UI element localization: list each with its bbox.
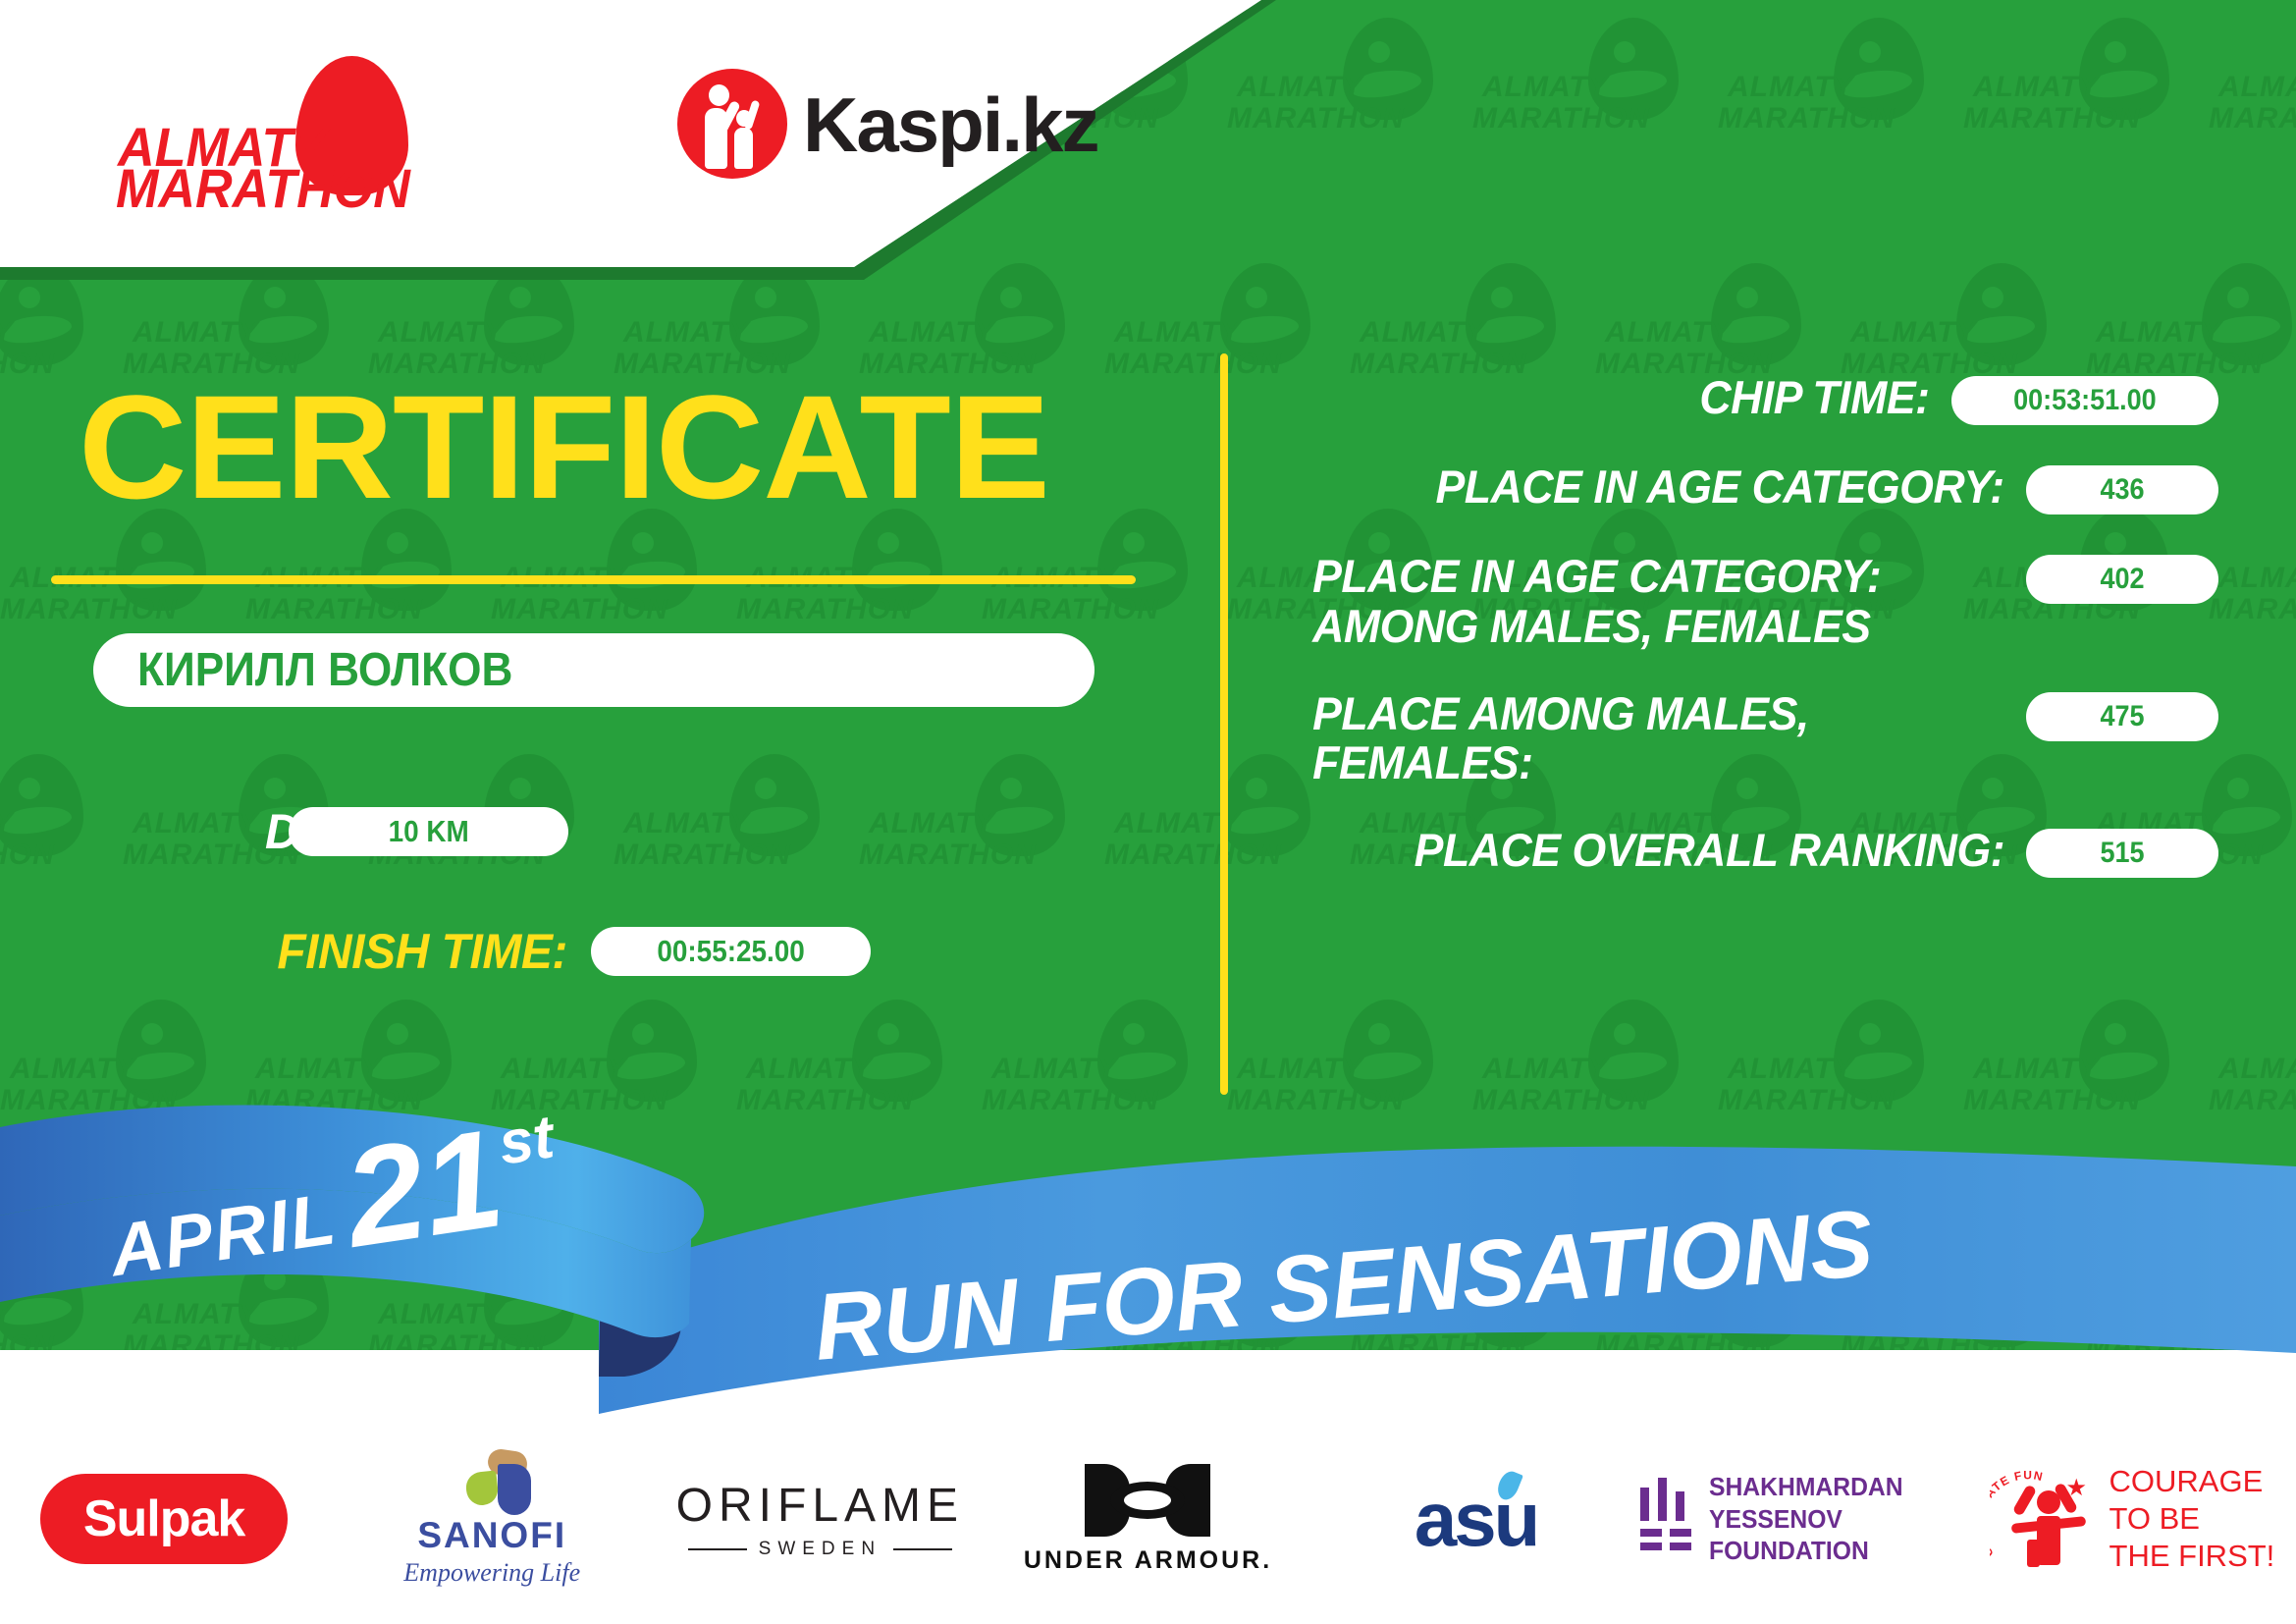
watermark-line-1: ALMATY bbox=[991, 1053, 1118, 1086]
watermark-line-2: MARATHON bbox=[0, 593, 178, 626]
stat-value-pill: 475 bbox=[2026, 692, 2218, 741]
participant-name: КИРИЛЛ ВОЛКОВ bbox=[137, 643, 512, 697]
watermark-line-1: ALMATY bbox=[1482, 71, 1609, 104]
stat-row: CHIP TIME:00:53:51.00 bbox=[1276, 373, 2218, 425]
watermark-line-2: MARATHON bbox=[1104, 348, 1282, 381]
stat-value-pill: 00:53:51.00 bbox=[1951, 376, 2218, 425]
watermark-line-1: ALMATY bbox=[1728, 71, 1854, 104]
watermark-line-1: ALMATY bbox=[1605, 316, 1732, 350]
watermark-line-2: MARATHON bbox=[614, 839, 791, 872]
event-ribbon: APRIL 21 st RUN FOR SENSATIONS bbox=[0, 1090, 2296, 1414]
watermark-line-1: ALMATY bbox=[2218, 1053, 2296, 1086]
sponsor-strip: Sulpak SANOFI Empowering Life ORIFLAME S… bbox=[0, 1414, 2296, 1624]
stat-value: 515 bbox=[2100, 837, 2144, 870]
watermark-tile: ALMATYMARATHON bbox=[1227, 0, 1472, 245]
stat-value-pill: 436 bbox=[2026, 465, 2218, 514]
oriflame-rule-right bbox=[893, 1548, 952, 1550]
distance-row: DISTANCE: 10 KM bbox=[265, 803, 568, 860]
watermark-line-1: ALMATY bbox=[623, 807, 750, 840]
finish-time-value-pill: 00:55:25.00 bbox=[591, 927, 871, 976]
watermark-line-2: MARATHON bbox=[2209, 593, 2296, 626]
watermark-line-2: MARATHON bbox=[0, 348, 55, 381]
watermark-line-1: ALMATY bbox=[2218, 71, 2296, 104]
watermark-tile: ALMATYMARATHON bbox=[0, 736, 123, 982]
stat-row: PLACE IN AGE CATEGORY:436 bbox=[1276, 462, 2218, 514]
watermark-tile: ALMATYMARATHON bbox=[1963, 0, 2209, 245]
watermark-line-1: ALMATY bbox=[1237, 1053, 1363, 1086]
sponsor-sulpak: Sulpak bbox=[0, 1440, 328, 1597]
oriflame-sub: SWEDEN bbox=[676, 1539, 964, 1560]
y-bar-2 bbox=[1658, 1478, 1667, 1521]
stat-value-pill: 515 bbox=[2026, 829, 2218, 878]
kaspi-family-icon bbox=[677, 69, 787, 179]
watermark-line-2: MARATHON bbox=[1227, 102, 1405, 135]
kaspi-child-head bbox=[736, 110, 752, 127]
event-day-suffix: st bbox=[495, 1102, 559, 1178]
watermark-line-2: MARATHON bbox=[0, 839, 55, 872]
sanofi-logo: SANOFI Empowering Life bbox=[369, 1450, 614, 1588]
watermark-tile: ALMATYMARATHON bbox=[2209, 0, 2296, 245]
under-armour-wordmark: UNDER ARMOUR. bbox=[1024, 1546, 1272, 1575]
stat-label: PLACE OVERALL RANKING: bbox=[1415, 826, 2004, 876]
distance-value: 10 KM bbox=[388, 814, 468, 849]
sanofi-mark-icon bbox=[369, 1450, 614, 1511]
courage-logo: CORPORATE FUND ★ COURAGE TO BE THE FIRST… bbox=[1990, 1463, 2275, 1574]
yessenov-wordmark: SHAKHMARDAN YESSENOV FOUNDATION bbox=[1709, 1471, 1954, 1567]
y-bar-3 bbox=[1676, 1491, 1684, 1521]
asu-wordmark: asu bbox=[1415, 1476, 1537, 1562]
sanofi-tagline: Empowering Life bbox=[369, 1558, 614, 1588]
watermark-line-1: ALMATY bbox=[869, 316, 995, 350]
watermark-line-1: ALMATY bbox=[1973, 71, 2100, 104]
courage-leg bbox=[2027, 1540, 2040, 1567]
oriflame-wordmark: ORIFLAME bbox=[676, 1479, 964, 1533]
sanofi-green-shape bbox=[465, 1470, 500, 1506]
sponsor-courage: CORPORATE FUND ★ COURAGE TO BE THE FIRST… bbox=[1968, 1440, 2296, 1597]
column-divider bbox=[1220, 353, 1228, 1095]
y-bar-1 bbox=[1640, 1488, 1649, 1521]
stat-label: CHIP TIME: bbox=[1700, 373, 1930, 423]
watermark-line-1: ALMATY bbox=[1237, 71, 1363, 104]
watermark-line-1: ALMATY bbox=[133, 807, 259, 840]
yessenov-logo: SHAKHMARDAN YESSENOV FOUNDATION bbox=[1640, 1471, 1968, 1567]
under-armour-icon bbox=[1085, 1464, 1210, 1537]
oriflame-sub-text: SWEDEN bbox=[759, 1539, 881, 1560]
watermark-tile: ALMATYMARATHON bbox=[1472, 0, 1718, 245]
watermark-line-1: ALMATY bbox=[1114, 316, 1241, 350]
stat-row: PLACE OVERALL RANKING:515 bbox=[1276, 826, 2218, 878]
watermark-line-1: ALMATY bbox=[1482, 1053, 1609, 1086]
kaspi-logo: Kaspi.kz bbox=[677, 59, 1090, 187]
oriflame-rule-left bbox=[688, 1548, 747, 1550]
watermark-line-2: MARATHON bbox=[1472, 102, 1650, 135]
kaspi-adult-body bbox=[705, 108, 727, 169]
watermark-line-1: ALMATY bbox=[133, 316, 259, 350]
courage-wordmark: COURAGE TO BE THE FIRST! bbox=[2109, 1463, 2275, 1574]
page-title: CERTIFICATE bbox=[79, 373, 1049, 520]
stat-label: PLACE IN AGE CATEGORY: bbox=[1436, 462, 2004, 513]
courage-head bbox=[2037, 1490, 2060, 1514]
watermark-line-1: ALMATY bbox=[255, 1053, 382, 1086]
watermark-tile: ALMATYMARATHON bbox=[2209, 491, 2296, 736]
watermark-line-1: ALMATY bbox=[1360, 316, 1486, 350]
event-day: 21 bbox=[338, 1115, 509, 1263]
y-bar-7 bbox=[1670, 1543, 1691, 1550]
sanofi-wordmark: SANOFI bbox=[369, 1515, 614, 1556]
watermark-line-1: ALMATY bbox=[2218, 562, 2296, 595]
stat-label: PLACE IN AGE CATEGORY: AMONG MALES, FEMA… bbox=[1312, 552, 2004, 652]
watermark-line-2: MARATHON bbox=[1718, 102, 1896, 135]
watermark-line-2: MARATHON bbox=[736, 593, 914, 626]
watermark-line-2: MARATHON bbox=[1963, 102, 2141, 135]
sponsor-sanofi: SANOFI Empowering Life bbox=[328, 1440, 656, 1597]
stat-value-pill: 402 bbox=[2026, 555, 2218, 604]
stat-label: PLACE AMONG MALES, FEMALES: bbox=[1312, 689, 2004, 789]
watermark-line-1: ALMATY bbox=[10, 1053, 136, 1086]
y-bar-4 bbox=[1640, 1529, 1662, 1537]
almaty-marathon-logo: ALMATY MARATHON bbox=[116, 54, 440, 211]
participant-name-field: КИРИЛЛ ВОЛКОВ bbox=[93, 633, 1095, 707]
watermark-line-1: ALMATY bbox=[378, 316, 505, 350]
watermark-line-2: MARATHON bbox=[245, 593, 423, 626]
sponsor-asu: asu bbox=[1312, 1440, 1640, 1597]
stat-value: 402 bbox=[2100, 563, 2144, 596]
watermark-tile: ALMATYMARATHON bbox=[859, 736, 1104, 982]
stat-row: PLACE IN AGE CATEGORY: AMONG MALES, FEMA… bbox=[1276, 552, 2218, 652]
watermark-line-1: ALMATY bbox=[0, 316, 14, 350]
stats-list: CHIP TIME:00:53:51.00PLACE IN AGE CATEGO… bbox=[1276, 373, 2218, 915]
watermark-line-1: ALMATY bbox=[746, 1053, 873, 1086]
watermark-tile: ALMATYMARATHON bbox=[1718, 0, 1963, 245]
y-bar-6 bbox=[1640, 1543, 1662, 1550]
courage-mark-icon: CORPORATE FUND ★ bbox=[1990, 1465, 2096, 1573]
sponsor-under-armour: UNDER ARMOUR. bbox=[984, 1440, 1311, 1597]
stat-value: 436 bbox=[2100, 473, 2144, 507]
watermark-line-2: MARATHON bbox=[491, 593, 668, 626]
watermark-line-1: ALMATY bbox=[1728, 1053, 1854, 1086]
watermark-line-1: ALMATY bbox=[869, 807, 995, 840]
watermark-line-1: ALMATY bbox=[1850, 316, 1977, 350]
finish-time-row: FINISH TIME: 00:55:25.00 bbox=[265, 923, 871, 980]
watermark-line-1: ALMATY bbox=[1973, 1053, 2100, 1086]
watermark-line-2: MARATHON bbox=[1104, 839, 1282, 872]
kaspi-wordmark: Kaspi.kz bbox=[803, 81, 1097, 170]
kaspi-adult-head bbox=[709, 84, 729, 106]
ua-center-hole bbox=[1124, 1490, 1171, 1510]
finish-time-value: 00:55:25.00 bbox=[657, 934, 804, 969]
asu-logo: asu bbox=[1415, 1475, 1537, 1564]
sulpak-wordmark: Sulpak bbox=[83, 1489, 245, 1548]
watermark-line-1: ALMATY bbox=[0, 807, 14, 840]
stat-value: 00:53:51.00 bbox=[2013, 384, 2157, 417]
watermark-line-2: MARATHON bbox=[982, 593, 1159, 626]
y-bar-5 bbox=[1670, 1529, 1691, 1537]
certificate-page: ALMATYMARATHONALMATYMARATHONALMATYMARATH… bbox=[0, 0, 2296, 1624]
stat-row: PLACE AMONG MALES, FEMALES:475 bbox=[1276, 689, 2218, 789]
sanofi-blue-shape bbox=[498, 1464, 531, 1515]
oriflame-logo: ORIFLAME SWEDEN bbox=[676, 1479, 964, 1560]
watermark-line-1: ALMATY bbox=[623, 316, 750, 350]
watermark-line-2: MARATHON bbox=[2209, 102, 2296, 135]
watermark-line-1: ALMATY bbox=[501, 1053, 627, 1086]
watermark-line-2: MARATHON bbox=[859, 839, 1037, 872]
kaspi-child-body bbox=[734, 128, 753, 169]
stat-value: 475 bbox=[2100, 700, 2144, 733]
yessenov-mark-icon bbox=[1640, 1478, 1688, 1560]
sponsor-yessenov: SHAKHMARDAN YESSENOV FOUNDATION bbox=[1640, 1440, 1968, 1597]
logo-line-2: MARATHON bbox=[116, 156, 410, 220]
sponsor-oriflame: ORIFLAME SWEDEN bbox=[656, 1440, 984, 1597]
sulpak-logo: Sulpak bbox=[40, 1474, 289, 1564]
watermark-line-1: ALMATY bbox=[2096, 316, 2222, 350]
under-armour-logo: UNDER ARMOUR. bbox=[1024, 1464, 1272, 1575]
finish-time-label: FINISH TIME: bbox=[277, 923, 567, 980]
title-divider bbox=[51, 575, 1136, 584]
